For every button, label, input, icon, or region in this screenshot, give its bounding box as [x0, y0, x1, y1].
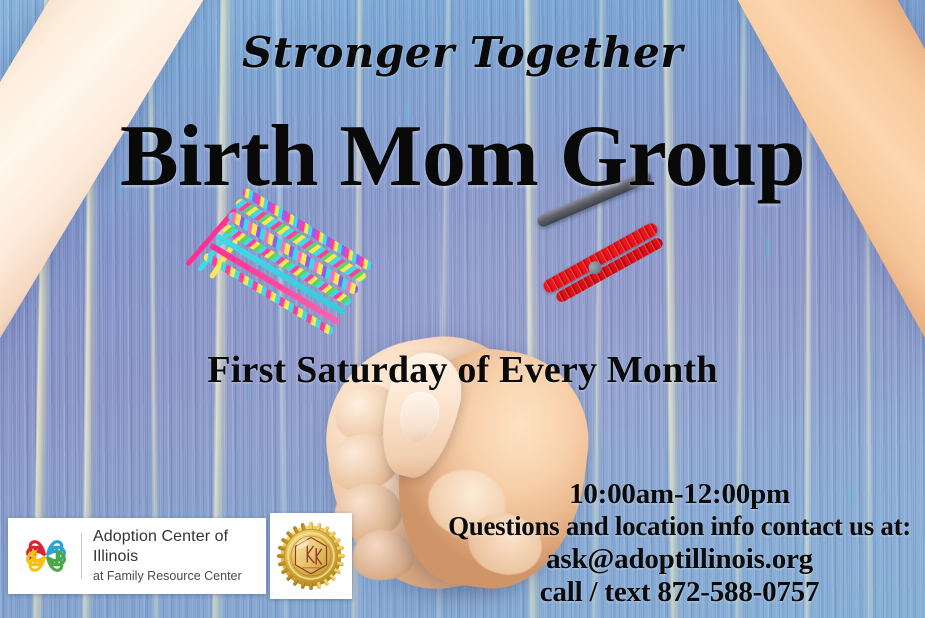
- four-heart-flower-icon: [18, 528, 74, 584]
- logo-divider: [81, 533, 82, 579]
- organization-subname: at Family Resource Center: [93, 568, 266, 584]
- award-seal-panel: [270, 513, 352, 599]
- organization-name: Adoption Center of Illinois: [93, 527, 266, 567]
- questions-line: Questions and location info contact us a…: [448, 511, 911, 542]
- contact-email[interactable]: ask@adoptillinois.org: [448, 543, 911, 577]
- contact-phone[interactable]: call / text 872-588-0757: [448, 576, 911, 610]
- event-time: 10:00am-12:00pm: [448, 478, 911, 512]
- contact-block: 10:00am-12:00pm Questions and location i…: [448, 478, 911, 610]
- gold-award-seal-icon: [274, 519, 348, 593]
- headline: Stronger Together: [0, 28, 925, 77]
- subtitle-schedule: First Saturday of Every Month: [0, 348, 925, 392]
- organization-logo-panel: Adoption Center of Illinois at Family Re…: [8, 518, 266, 594]
- organization-name-block: Adoption Center of Illinois at Family Re…: [93, 527, 266, 584]
- page-title: Birth Mom Group: [0, 112, 925, 202]
- poster-root: Stronger Together Birth Mom Group First …: [0, 0, 925, 618]
